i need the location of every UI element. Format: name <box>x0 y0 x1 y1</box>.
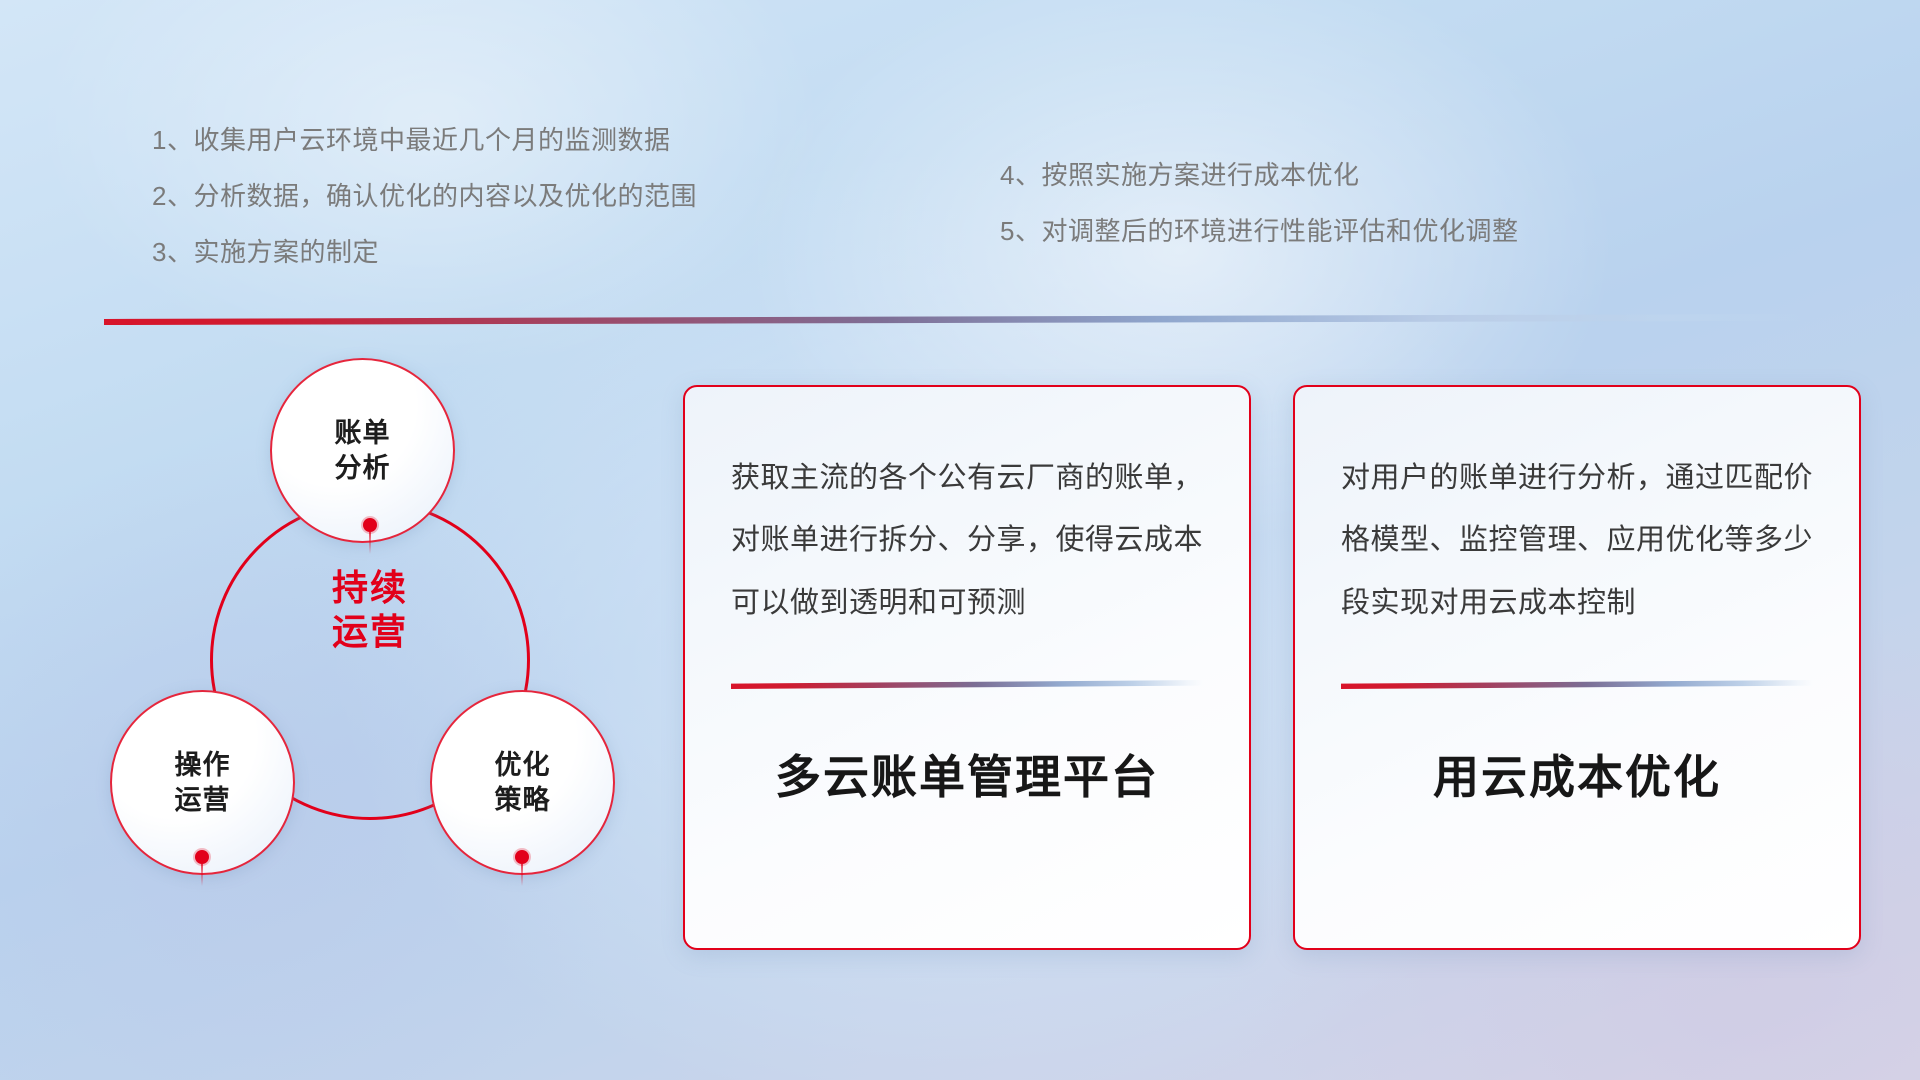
slide-canvas: 1、收集用户云环境中最近几个月的监测数据 2、分析数据，确认优化的内容以及优化的… <box>0 0 1920 1080</box>
card-divider <box>731 680 1203 689</box>
node-dot-bottom-left <box>195 850 209 864</box>
node-tail-bottom-left <box>201 864 203 886</box>
diagram-node-optimization-strategy[interactable]: 优化 策略 <box>430 690 615 875</box>
steps-list-left: 1、收集用户云环境中最近几个月的监测数据 2、分析数据，确认优化的内容以及优化的… <box>152 127 697 295</box>
node-label-line1: 操作 <box>175 748 231 783</box>
node-label-line2: 分析 <box>335 451 391 486</box>
center-label-line1: 持续 <box>290 566 450 610</box>
card-divider <box>1341 680 1813 689</box>
step-item-1: 1、收集用户云环境中最近几个月的监测数据 <box>152 127 697 153</box>
node-tail-bottom-right <box>521 864 523 886</box>
step-item-2: 2、分析数据，确认优化的内容以及优化的范围 <box>152 183 697 209</box>
cycle-diagram: 账单 分析 操作 运营 优化 策略 持续 运营 <box>100 350 660 970</box>
node-label-line1: 账单 <box>335 416 391 451</box>
diagram-node-bill-analysis[interactable]: 账单 分析 <box>270 358 455 543</box>
step-item-3: 3、实施方案的制定 <box>152 239 697 265</box>
node-dot-bottom-right <box>515 850 529 864</box>
diagram-node-operations[interactable]: 操作 运营 <box>110 690 295 875</box>
card-title: 多云账单管理平台 <box>731 741 1203 807</box>
feature-card-cloud-cost-optimization[interactable]: 对用户的账单进行分析，通过匹配价格模型、监控管理、应用优化等多少段实现对用云成本… <box>1293 385 1861 950</box>
center-label-line2: 运营 <box>290 610 450 654</box>
node-label-line1: 优化 <box>495 748 551 783</box>
node-tail-top <box>369 532 371 554</box>
node-label-line2: 运营 <box>175 783 231 818</box>
step-item-4: 4、按照实施方案进行成本优化 <box>1000 162 1518 188</box>
step-item-5: 5、对调整后的环境进行性能评估和优化调整 <box>1000 218 1518 244</box>
cycle-center-label: 持续 运营 <box>290 566 450 654</box>
card-body-text: 对用户的账单进行分析，通过匹配价格模型、监控管理、应用优化等多少段实现对用云成本… <box>1341 447 1813 634</box>
node-label-line2: 策略 <box>495 783 551 818</box>
feature-card-multicloud-billing[interactable]: 获取主流的各个公有云厂商的账单，对账单进行拆分、分享，使得云成本可以做到透明和可… <box>683 385 1251 950</box>
card-body-text: 获取主流的各个公有云厂商的账单，对账单进行拆分、分享，使得云成本可以做到透明和可… <box>731 447 1203 634</box>
section-divider <box>104 314 1804 325</box>
node-dot-top <box>363 518 377 532</box>
steps-list-right: 4、按照实施方案进行成本优化 5、对调整后的环境进行性能评估和优化调整 <box>1000 162 1518 274</box>
card-title: 用云成本优化 <box>1341 741 1813 807</box>
